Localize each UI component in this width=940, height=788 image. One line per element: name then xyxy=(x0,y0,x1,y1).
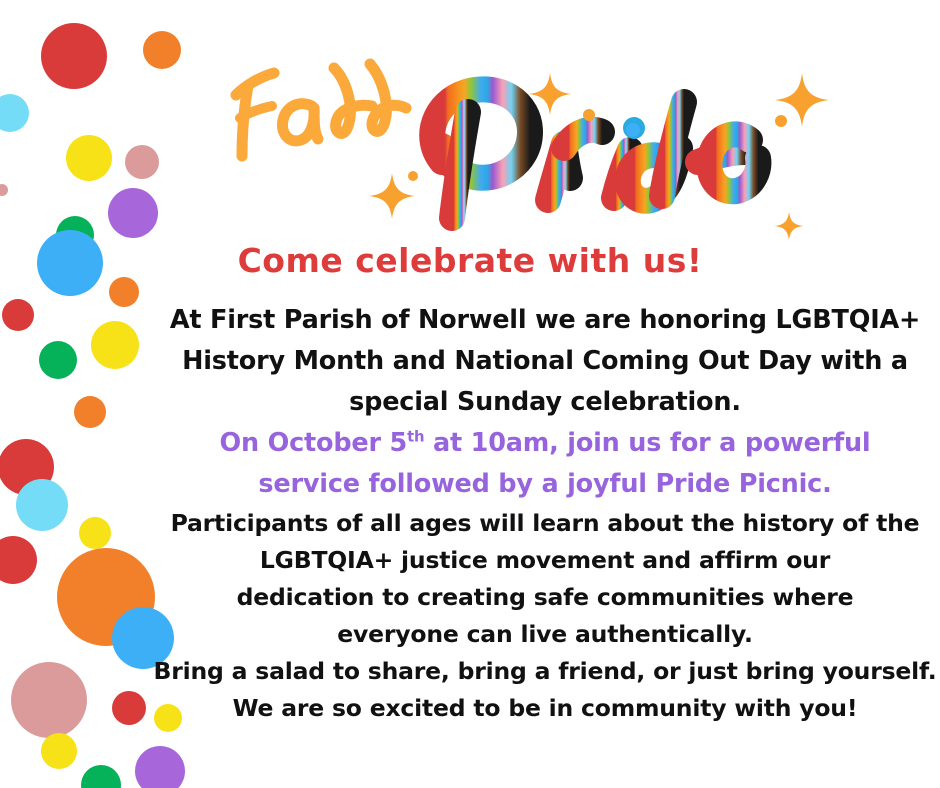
dot-yellow-5 xyxy=(41,733,77,769)
dot-green-4 xyxy=(81,765,121,788)
dot-red-5 xyxy=(112,691,146,725)
paragraph-event-line-1: On October 5th at 10am, join us for a po… xyxy=(150,423,940,464)
dot-orange-big xyxy=(57,548,155,646)
paragraph-invitation-line-2: We are so excited to be in community wit… xyxy=(150,690,940,727)
paragraph-intro-line-3: special Sunday celebration. xyxy=(150,382,940,423)
sparkle-dot-blue xyxy=(626,123,640,137)
paragraph-invitation-line-1: Bring a salad to share, bring a friend, … xyxy=(150,653,940,690)
event-date-pre: On October 5 xyxy=(220,428,408,458)
paragraph-program-line-2: LGBTQIA+ justice movement and affirm our xyxy=(150,542,940,579)
sparkle-dot-left xyxy=(408,171,418,181)
paragraph-event-line-2: service followed by a joyful Pride Picni… xyxy=(150,464,940,505)
dot-red-2 xyxy=(2,299,34,331)
sparkle-dot-right xyxy=(775,115,787,127)
paragraph-intro: At First Parish of Norwell we are honori… xyxy=(150,300,940,423)
dot-purple-2 xyxy=(135,746,185,788)
event-date-post: at 10am, join us for a powerful xyxy=(424,428,870,458)
dot-dustypink-2 xyxy=(11,662,87,738)
paragraph-program-line-3: dedication to creating safe communities … xyxy=(150,579,940,616)
paragraph-invitation: Bring a salad to share, bring a friend, … xyxy=(150,653,940,727)
body-copy: At First Parish of Norwell we are honori… xyxy=(150,300,940,727)
dot-green-2 xyxy=(39,341,77,379)
paragraph-event-details: On October 5th at 10am, join us for a po… xyxy=(150,423,940,505)
dot-red-4 xyxy=(0,536,37,584)
paragraph-program-line-1: Participants of all ages will learn abou… xyxy=(150,505,940,542)
paragraph-program: Participants of all ages will learn abou… xyxy=(150,505,940,653)
pride-event-poster: Come celebrate with us! At First Parish … xyxy=(0,0,940,788)
dot-yellow-2 xyxy=(91,321,139,369)
paragraph-intro-line-1: At First Parish of Norwell we are honori… xyxy=(150,300,940,341)
headline-block: Come celebrate with us! xyxy=(0,0,940,290)
dot-yellow-3 xyxy=(79,517,111,549)
dot-orange-3 xyxy=(74,396,106,428)
paragraph-intro-line-2: History Month and National Coming Out Da… xyxy=(150,341,940,382)
paragraph-program-line-4: everyone can live authentically. xyxy=(150,616,940,653)
dot-lightblue-2 xyxy=(16,479,68,531)
dot-green-3 xyxy=(0,539,17,565)
dot-red-3 xyxy=(0,439,54,495)
date-ordinal-suffix: th xyxy=(407,429,424,446)
sparkle-dot-middle xyxy=(583,109,595,121)
sparkle-top-middle xyxy=(528,72,572,116)
tagline-text: Come celebrate with us! xyxy=(0,241,940,280)
sparkle-bottom-right xyxy=(774,211,804,241)
